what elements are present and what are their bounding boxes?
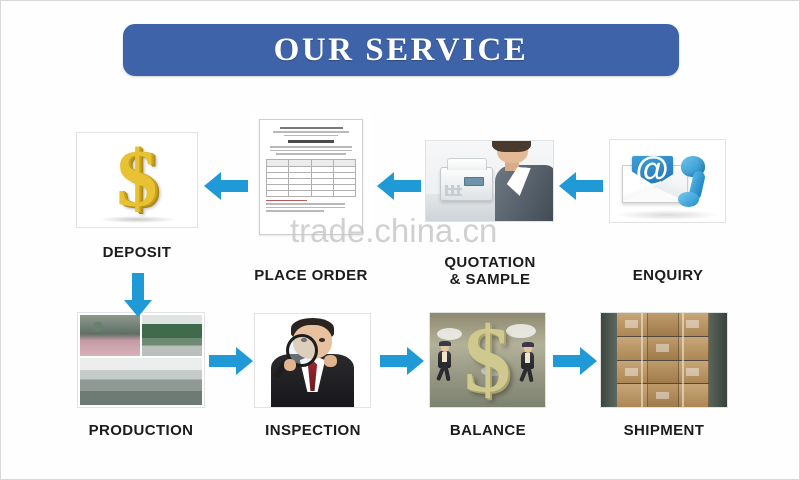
- page-title: OUR SERVICE: [274, 32, 529, 69]
- flow-step-quotation-label: QUOTATION & SAMPLE: [421, 254, 559, 288]
- flow-step-inspection-label: INSPECTION: [251, 422, 375, 439]
- flow-step-shipment-label: SHIPMENT: [596, 422, 732, 439]
- flow-step-inspection[interactable]: [254, 313, 371, 408]
- quotation-image: [425, 140, 554, 222]
- deposit-image: $: [76, 132, 198, 228]
- flow-step-deposit-label: DEPOSIT: [76, 244, 198, 261]
- flow-step-balance-label: BALANCE: [426, 422, 550, 439]
- flow-step-quotation[interactable]: [425, 140, 554, 222]
- arrow-production-to-inspection: [209, 344, 253, 378]
- page-title-banner: OUR SERVICE: [123, 24, 679, 76]
- flow-step-enquiry-label: ENQUIRY: [606, 267, 730, 284]
- dollar-climbers-icon: $: [430, 313, 545, 407]
- flow-step-shipment[interactable]: [600, 312, 728, 408]
- magnifying-glass-man-icon: [255, 314, 370, 407]
- shipment-image: [600, 312, 728, 408]
- fax-and-businesswoman-icon: [426, 141, 553, 221]
- production-image: [77, 312, 205, 408]
- flow-step-balance[interactable]: $: [429, 312, 546, 408]
- flow-step-production-label: PRODUCTION: [71, 422, 211, 439]
- arrow-deposit-to-production: [121, 273, 155, 317]
- arrow-quotation-to-order: [377, 169, 421, 203]
- factory-collage-icon: [78, 313, 204, 407]
- arrow-enquiry-to-quotation: [559, 169, 603, 203]
- arrow-order-to-deposit: [204, 169, 248, 203]
- flow-step-deposit[interactable]: $: [76, 132, 198, 228]
- enquiry-image: @: [609, 139, 726, 223]
- email-phone-icon: @: [610, 140, 725, 222]
- balance-image: $: [429, 312, 546, 408]
- arrow-balance-to-shipment: [553, 344, 597, 378]
- flow-step-place-order-label: PLACE ORDER: [246, 267, 376, 284]
- arrow-inspection-to-balance: [380, 344, 424, 378]
- telephone-handset-icon: [679, 156, 718, 207]
- flow-step-production[interactable]: [77, 312, 205, 408]
- container-cartons-icon: [601, 313, 727, 407]
- flow-step-enquiry[interactable]: @: [609, 139, 726, 223]
- watermark-text: trade.china.cn: [290, 212, 497, 250]
- service-flow-page: OUR SERVICE $ DEPOSIT: [0, 0, 800, 480]
- gold-dollar-icon: $: [117, 137, 158, 219]
- inspection-image: [254, 313, 371, 408]
